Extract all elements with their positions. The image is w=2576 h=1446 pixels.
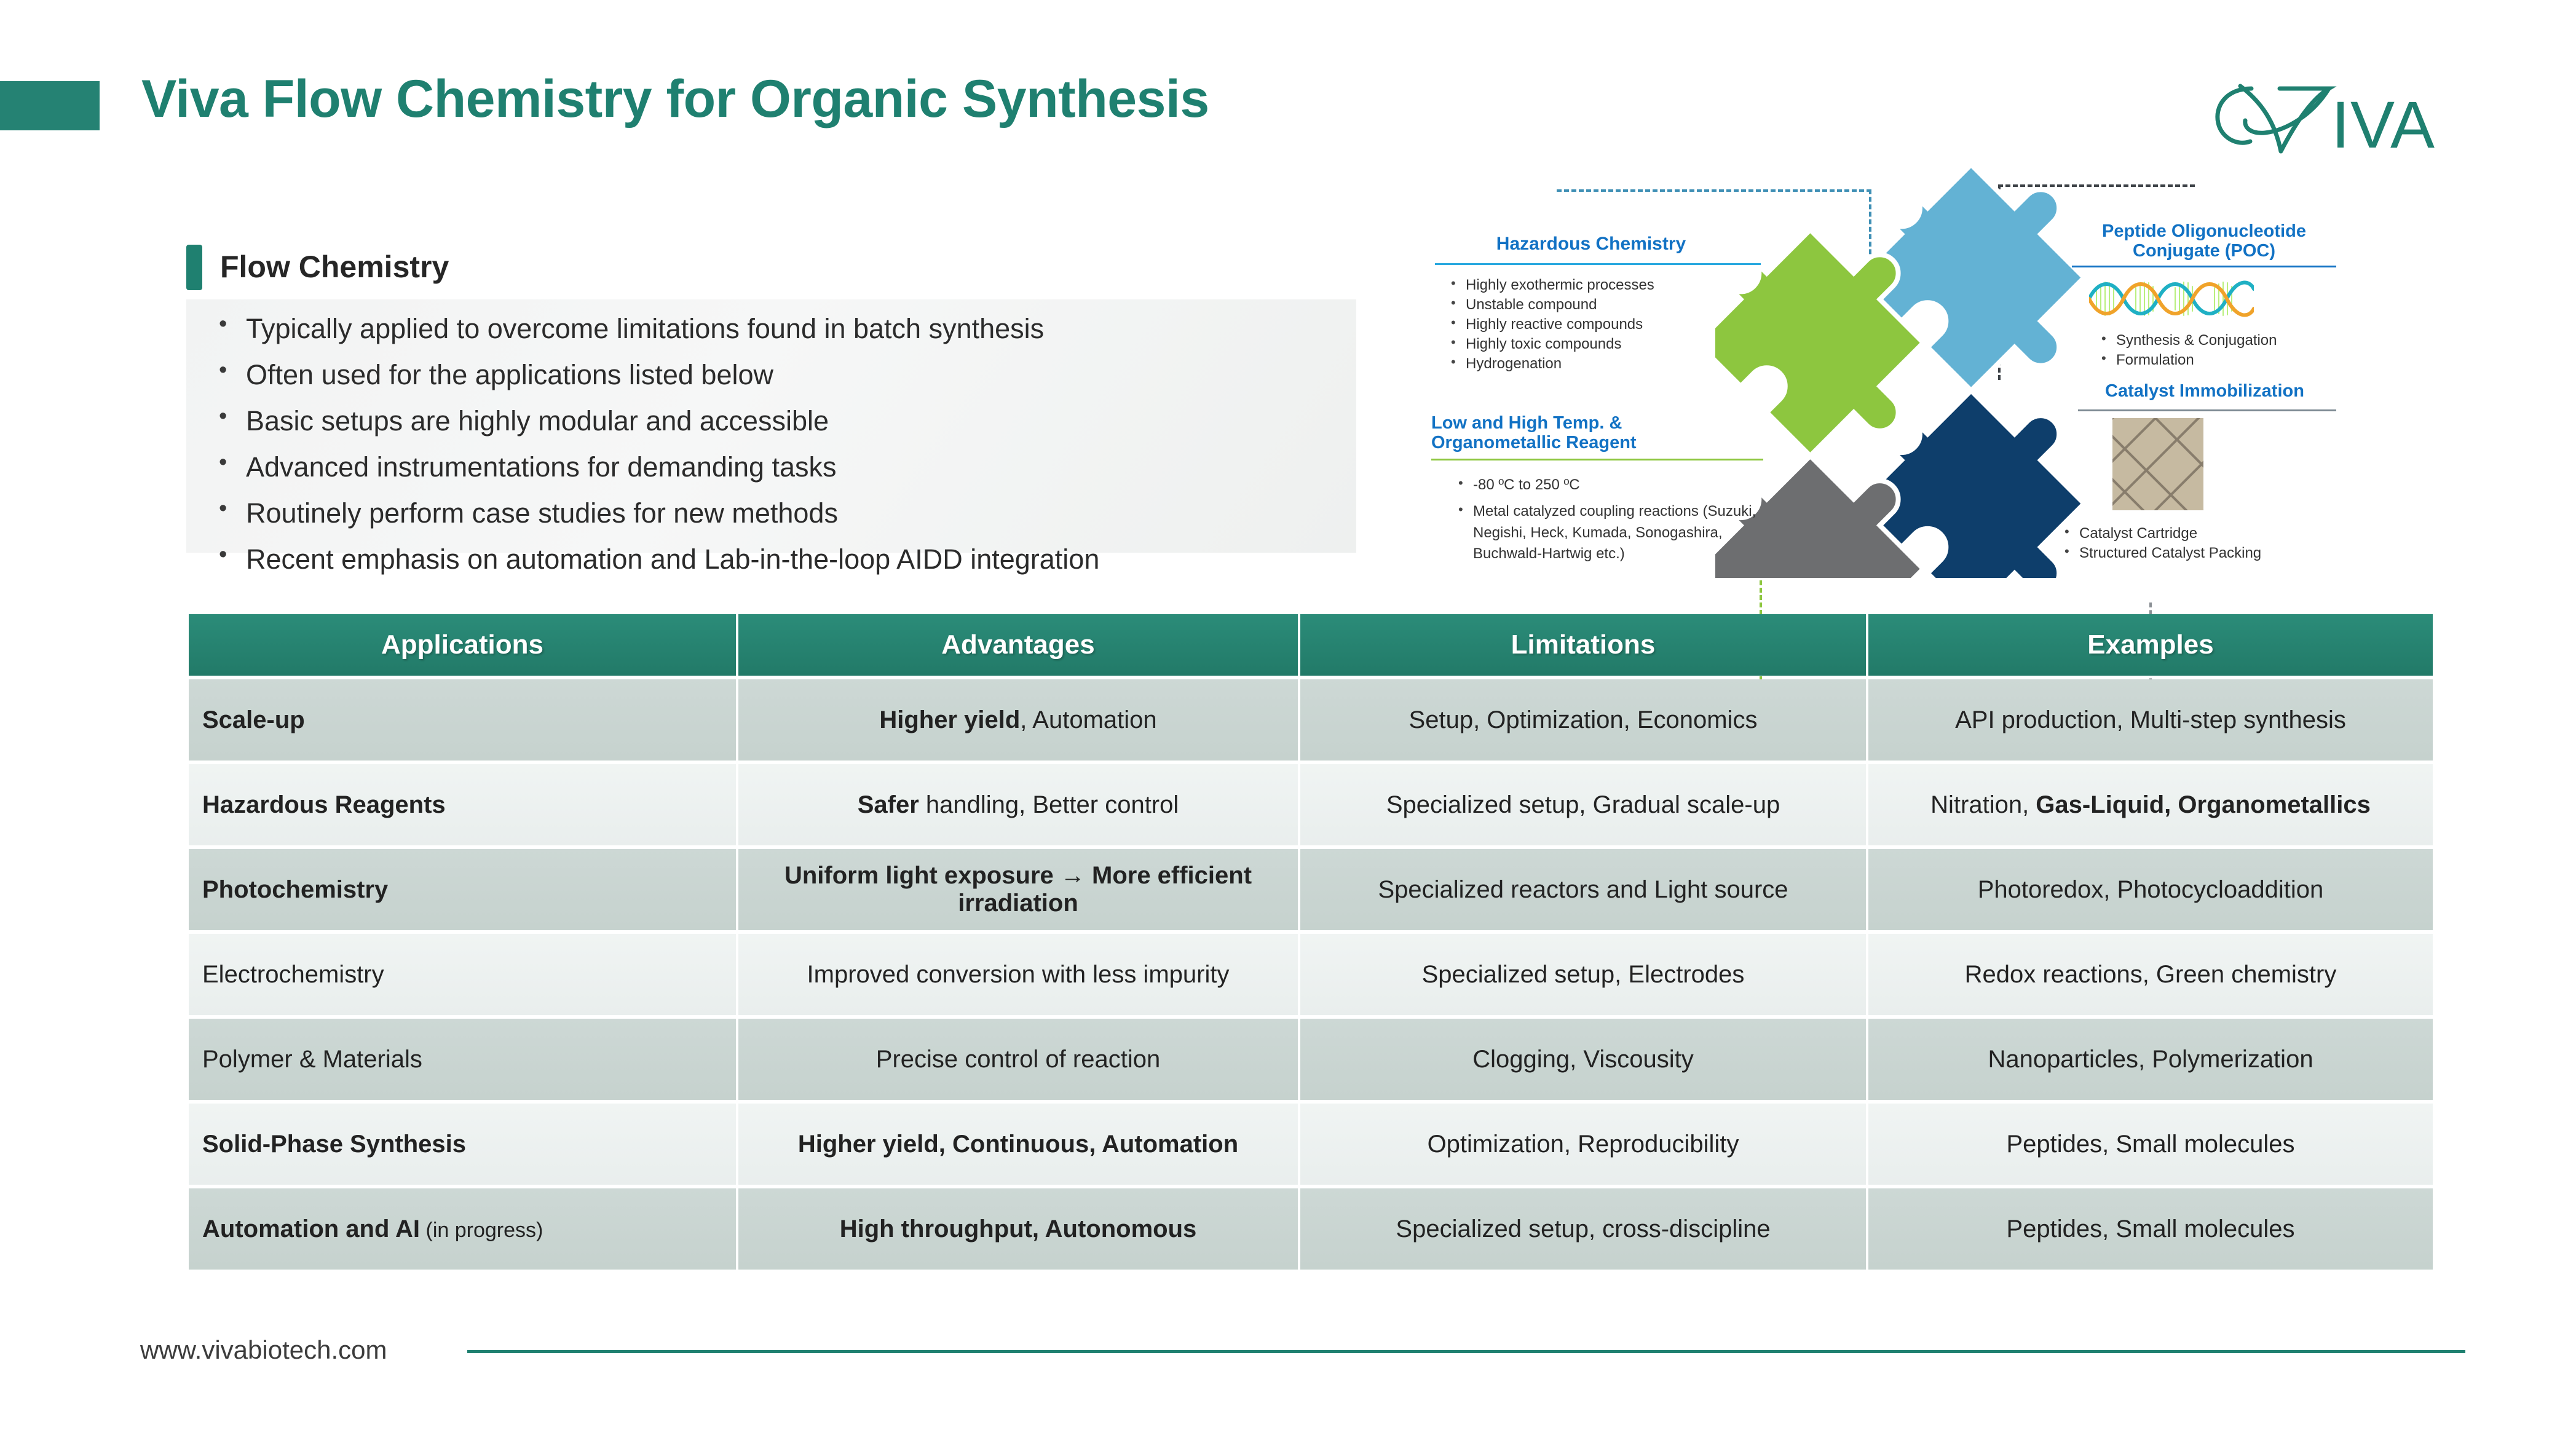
list-item: Hydrogenation (1445, 354, 1764, 374)
list-item: Advanced instrumentations for demanding … (209, 453, 1353, 481)
block-heading-peptide-conjugate: Peptide Oligonucleotide Conjugate (POC) (2060, 221, 2349, 261)
cell-advantages: Higher yield, Continuous, Automation (738, 1104, 1298, 1185)
cell-advantages-rest: Precise control of reaction (876, 1046, 1160, 1073)
table-row: Solid-Phase Synthesis Higher yield, Cont… (189, 1104, 2433, 1185)
title-accent-block (0, 81, 100, 130)
table-header-row: Applications Advantages Limitations Exam… (189, 614, 2433, 676)
cell-advantages-rest: Improved conversion with less impurity (807, 961, 1230, 988)
page-title: Viva Flow Chemistry for Organic Synthesi… (141, 69, 1209, 130)
cell-limitations: Specialized setup, Electrodes (1300, 934, 1866, 1015)
cell-advantages-rest: , Automation (1020, 706, 1156, 733)
cell-examples-bold: Gas-Liquid, Organometallics (2036, 791, 2371, 818)
list-item: Unstable compound (1445, 295, 1764, 315)
cell-limitations: Setup, Optimization, Economics (1300, 679, 1866, 761)
cell-application: Scale-up (189, 679, 736, 761)
cell-application-note: (in progress) (420, 1219, 543, 1242)
block-heading-hazardous-chemistry: Hazardous Chemistry (1437, 234, 1745, 255)
list-item: Highly exothermic processes (1445, 275, 1764, 295)
column-header-applications: Applications (189, 614, 736, 676)
block-heading-low-high-temp: Low and High Temp. & Organometallic Reag… (1431, 413, 1763, 453)
cell-advantages: Precise control of reaction (738, 1019, 1298, 1100)
cell-application: Polymer & Materials (189, 1019, 736, 1100)
list-item: -80 ºC to 250 ºC (1452, 475, 1772, 496)
logo-wordmark: IVA (2331, 87, 2435, 154)
table-row: Electrochemistry Improved conversion wit… (189, 934, 2433, 1015)
list-item: Typically applied to overcome limitation… (209, 315, 1353, 342)
puzzle-graphic (1715, 160, 2096, 578)
cell-examples: Redox reactions, Green chemistry (1868, 934, 2433, 1015)
cell-examples: Peptides, Small molecules (1868, 1188, 2433, 1270)
block-heading-line2: Conjugate (POC) (2133, 241, 2275, 261)
list-item: Routinely perform case studies for new m… (209, 499, 1353, 527)
list-item: Highly reactive compounds (1445, 315, 1764, 334)
footer-url[interactable]: www.vivabiotech.com (140, 1335, 387, 1365)
cell-advantages-bold: Uniform light exposure → More efficient … (784, 862, 1252, 917)
cell-application: Automation and AI (in progress) (189, 1188, 736, 1270)
block-rule-hazardous-chemistry (1435, 263, 1761, 265)
cell-advantages-rest: handling, Better control (919, 791, 1179, 818)
column-header-limitations: Limitations (1300, 614, 1866, 676)
cell-advantages-bold: Higher yield, Continuous, Automation (798, 1131, 1238, 1158)
table-row: Hazardous Reagents Safer handling, Bette… (189, 764, 2433, 845)
list-item: Highly toxic compounds (1445, 334, 1764, 354)
block-bullets-hazardous-chemistry: Highly exothermic processes Unstable com… (1445, 275, 1764, 374)
cell-limitations: Specialized setup, Gradual scale-up (1300, 764, 1866, 845)
cell-examples: Nitration, Gas-Liquid, Organometallics (1868, 764, 2433, 845)
block-bullets-low-high-temp: -80 ºC to 250 ºC Metal catalyzed couplin… (1452, 475, 1772, 565)
cell-application: Solid-Phase Synthesis (189, 1104, 736, 1185)
list-item: Synthesis & Conjugation (2095, 331, 2366, 350)
table-row: Scale-up Higher yield, Automation Setup,… (189, 679, 2433, 761)
list-item: Basic setups are highly modular and acce… (209, 407, 1353, 435)
block-heading-line1: Low and High Temp. & (1431, 413, 1622, 433)
cell-examples: Photoredox, Photocycloaddition (1868, 849, 2433, 930)
cell-advantages: Safer handling, Better control (738, 764, 1298, 845)
section-heading: Flow Chemistry (220, 249, 449, 285)
cell-advantages-bold: High throughput, Autonomous (840, 1215, 1197, 1243)
cell-limitations: Clogging, Viscousity (1300, 1019, 1866, 1100)
applications-table: Applications Advantages Limitations Exam… (186, 610, 2423, 1273)
cell-advantages-bold: Safer (858, 791, 919, 818)
column-header-examples: Examples (1868, 614, 2433, 676)
cell-limitations: Specialized setup, cross-discipline (1300, 1188, 1866, 1270)
block-bullets-peptide-conjugate: Synthesis & Conjugation Formulation (2095, 331, 2366, 370)
cell-examples-pre: Nitration, (1930, 791, 2036, 818)
section-accent-bar (186, 245, 202, 290)
cell-application: Photochemistry (189, 849, 736, 930)
catalyst-packing-image (2112, 418, 2203, 510)
cell-examples: Peptides, Small molecules (1868, 1104, 2433, 1185)
list-item: Recent emphasis on automation and Lab-in… (209, 545, 1353, 573)
cell-limitations: Optimization, Reproducibility (1300, 1104, 1866, 1185)
footer-divider (467, 1350, 2465, 1353)
cell-advantages-bold: Higher yield (879, 706, 1020, 733)
table-row: Polymer & Materials Precise control of r… (189, 1019, 2433, 1100)
block-heading-line2: Organometallic Reagent (1431, 433, 1637, 452)
cell-application: Electrochemistry (189, 934, 736, 1015)
cell-examples: API production, Multi-step synthesis (1868, 679, 2433, 761)
cell-application: Hazardous Reagents (189, 764, 736, 845)
block-rule-catalyst-immobilization (2078, 409, 2336, 411)
cell-application-label: Automation and AI (202, 1215, 420, 1243)
list-item: Formulation (2095, 350, 2366, 370)
block-rule-peptide-conjugate (2072, 266, 2336, 267)
puzzle-diagram: Hazardous Chemistry Highly exothermic pr… (1426, 172, 2471, 572)
list-item: Often used for the applications listed b… (209, 361, 1353, 389)
flow-chemistry-bullets: Typically applied to overcome limitation… (209, 315, 1353, 591)
viva-logo: IVA (2208, 74, 2454, 154)
block-rule-low-high-temp (1431, 459, 1763, 460)
cell-advantages: Higher yield, Automation (738, 679, 1298, 761)
list-item: Structured Catalyst Packing (2058, 543, 2341, 563)
cell-advantages: Uniform light exposure → More efficient … (738, 849, 1298, 930)
column-header-advantages: Advantages (738, 614, 1298, 676)
block-heading-line1: Peptide Oligonucleotide (2102, 221, 2306, 241)
slide-root: Viva Flow Chemistry for Organic Synthesi… (0, 0, 2576, 1446)
cell-limitations: Specialized reactors and Light source (1300, 849, 1866, 930)
list-item: Metal catalyzed coupling reactions (Suzu… (1452, 501, 1772, 565)
cell-advantages: High throughput, Autonomous (738, 1188, 1298, 1270)
cell-advantages: Improved conversion with less impurity (738, 934, 1298, 1015)
cell-examples: Nanoparticles, Polymerization (1868, 1019, 2433, 1100)
list-item: Catalyst Cartridge (2058, 524, 2341, 543)
table-row: Automation and AI (in progress) High thr… (189, 1188, 2433, 1270)
dna-helix-image (2089, 275, 2254, 322)
block-heading-catalyst-immobilization: Catalyst Immobilization (2057, 381, 2352, 401)
table-row: Photochemistry Uniform light exposure → … (189, 849, 2433, 930)
block-bullets-catalyst-immobilization: Catalyst Cartridge Structured Catalyst P… (2058, 524, 2341, 563)
